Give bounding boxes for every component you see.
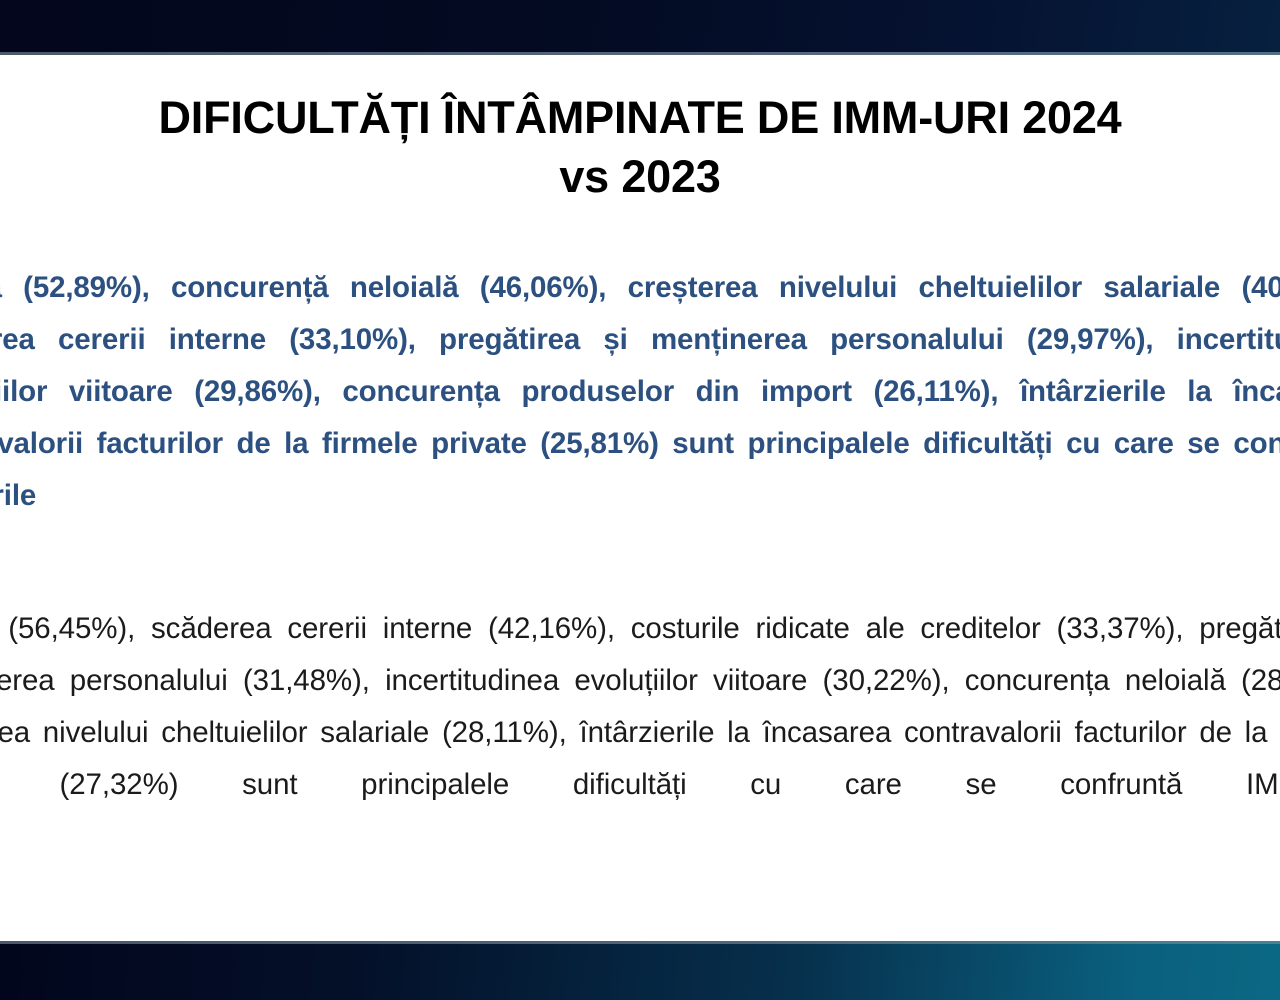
paragraph-difficulties-2024: inflația (52,89%), concurență neloială (… (0, 262, 1280, 574)
title-line-2: vs 2023 (0, 147, 1280, 206)
slide-canvas: DIFICULTĂȚI ÎNTÂMPINATE DE IMM-URI 2024 … (0, 0, 1280, 1000)
page-title: DIFICULTĂȚI ÎNTÂMPINATE DE IMM-URI 2024 … (0, 88, 1280, 207)
body-content: inflația (52,89%), concurență neloială (… (0, 232, 1280, 893)
title-line-1: DIFICULTĂȚI ÎNTÂMPINATE DE IMM-URI 2024 (0, 88, 1280, 147)
bottom-banner-decoration (0, 944, 1280, 1000)
top-banner-edge (0, 52, 1280, 55)
paragraph-difficulties-2023: inflația (56,45%), scăderea cererii inte… (0, 603, 1280, 863)
top-banner-decoration (0, 0, 1280, 52)
